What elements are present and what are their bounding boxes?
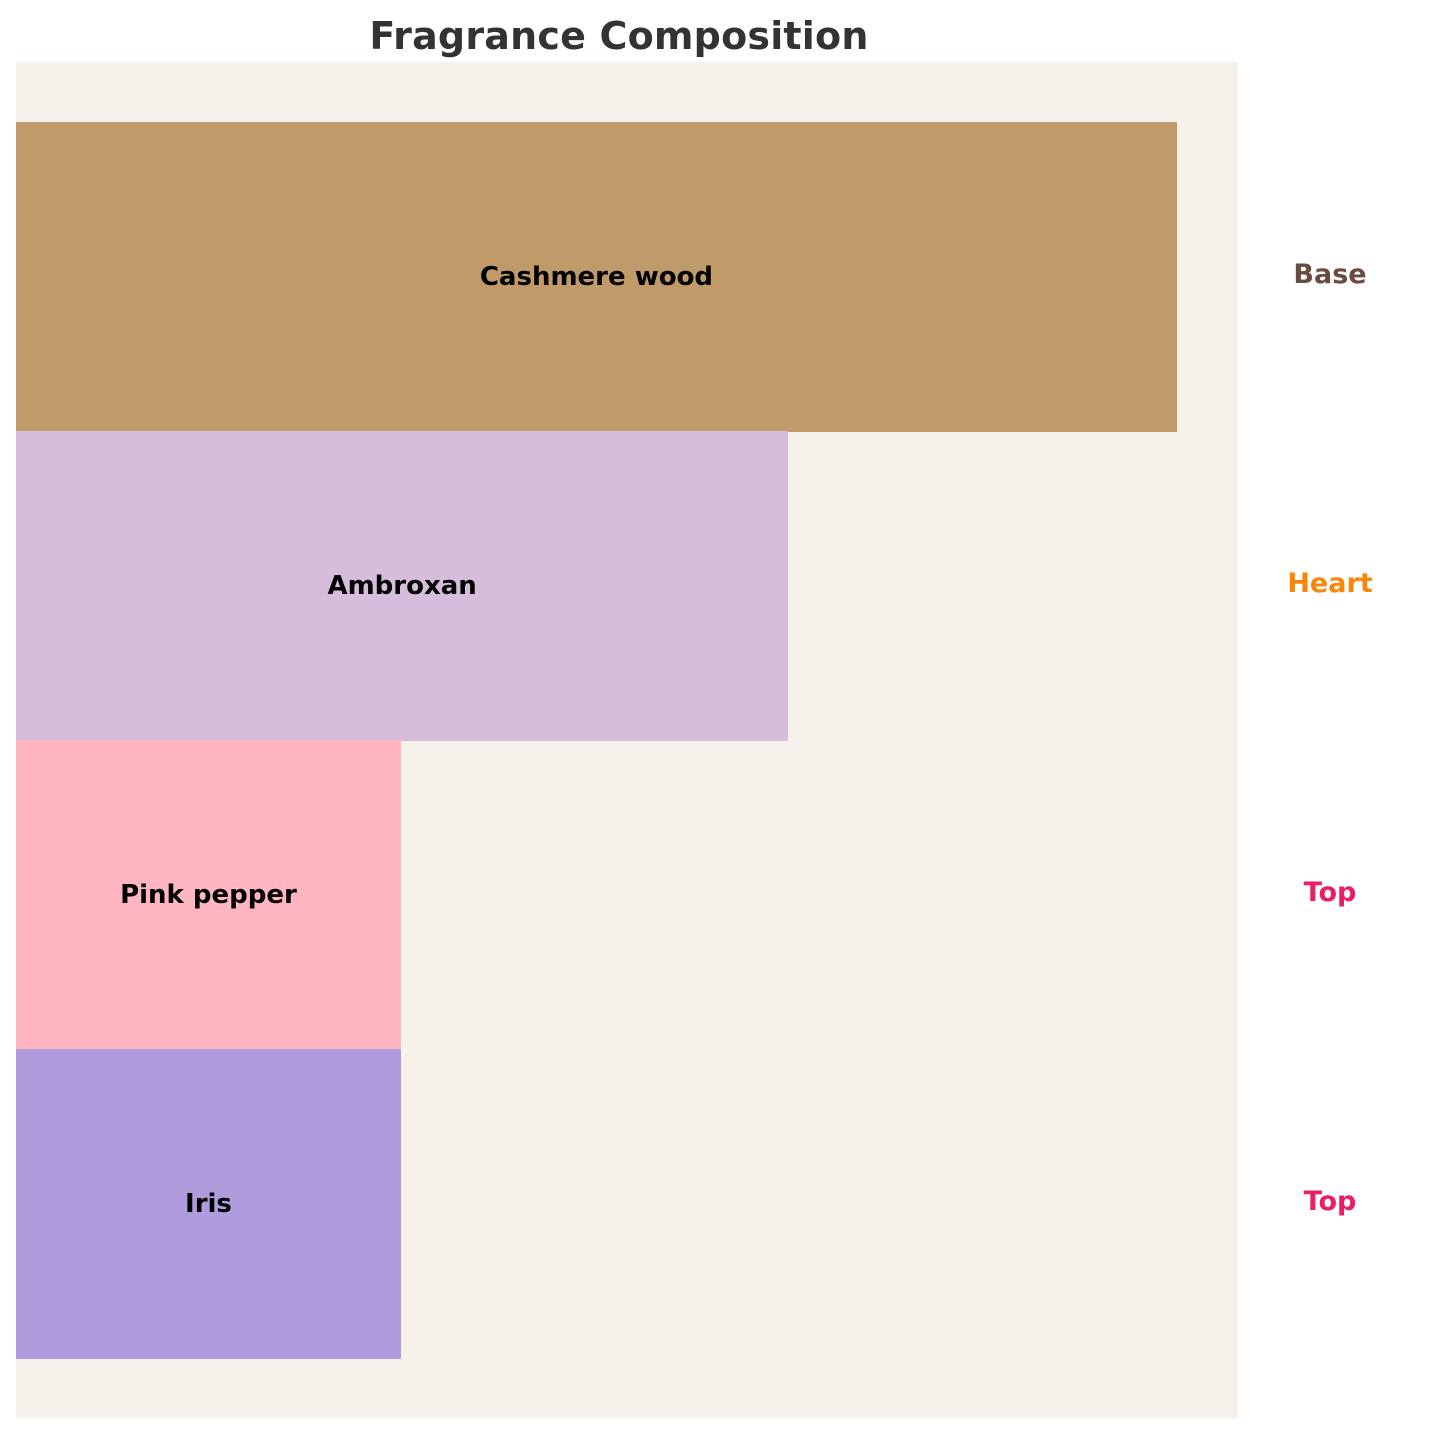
bar-iris[interactable]: Iris: [16, 1049, 401, 1359]
category-label-top-2: Top: [1304, 877, 1357, 908]
category-label-heart-1: Heart: [1287, 568, 1372, 599]
bar-ambroxan[interactable]: Ambroxan: [16, 431, 788, 741]
category-label-base-0: Base: [1293, 259, 1366, 290]
bar-label: Ambroxan: [16, 571, 788, 601]
figure: Fragrance Composition Cashmere woodAmbro…: [0, 0, 1440, 1440]
bar-label: Pink pepper: [16, 880, 401, 910]
bar-cashmere-wood[interactable]: Cashmere wood: [16, 122, 1177, 432]
plot-area: Cashmere woodAmbroxanPink pepperIris: [16, 62, 1238, 1418]
bar-label: Cashmere wood: [16, 262, 1177, 292]
category-label-top-3: Top: [1304, 1186, 1357, 1217]
chart-title: Fragrance Composition: [0, 14, 1238, 58]
bar-pink-pepper[interactable]: Pink pepper: [16, 740, 401, 1050]
bar-label: Iris: [16, 1189, 401, 1219]
